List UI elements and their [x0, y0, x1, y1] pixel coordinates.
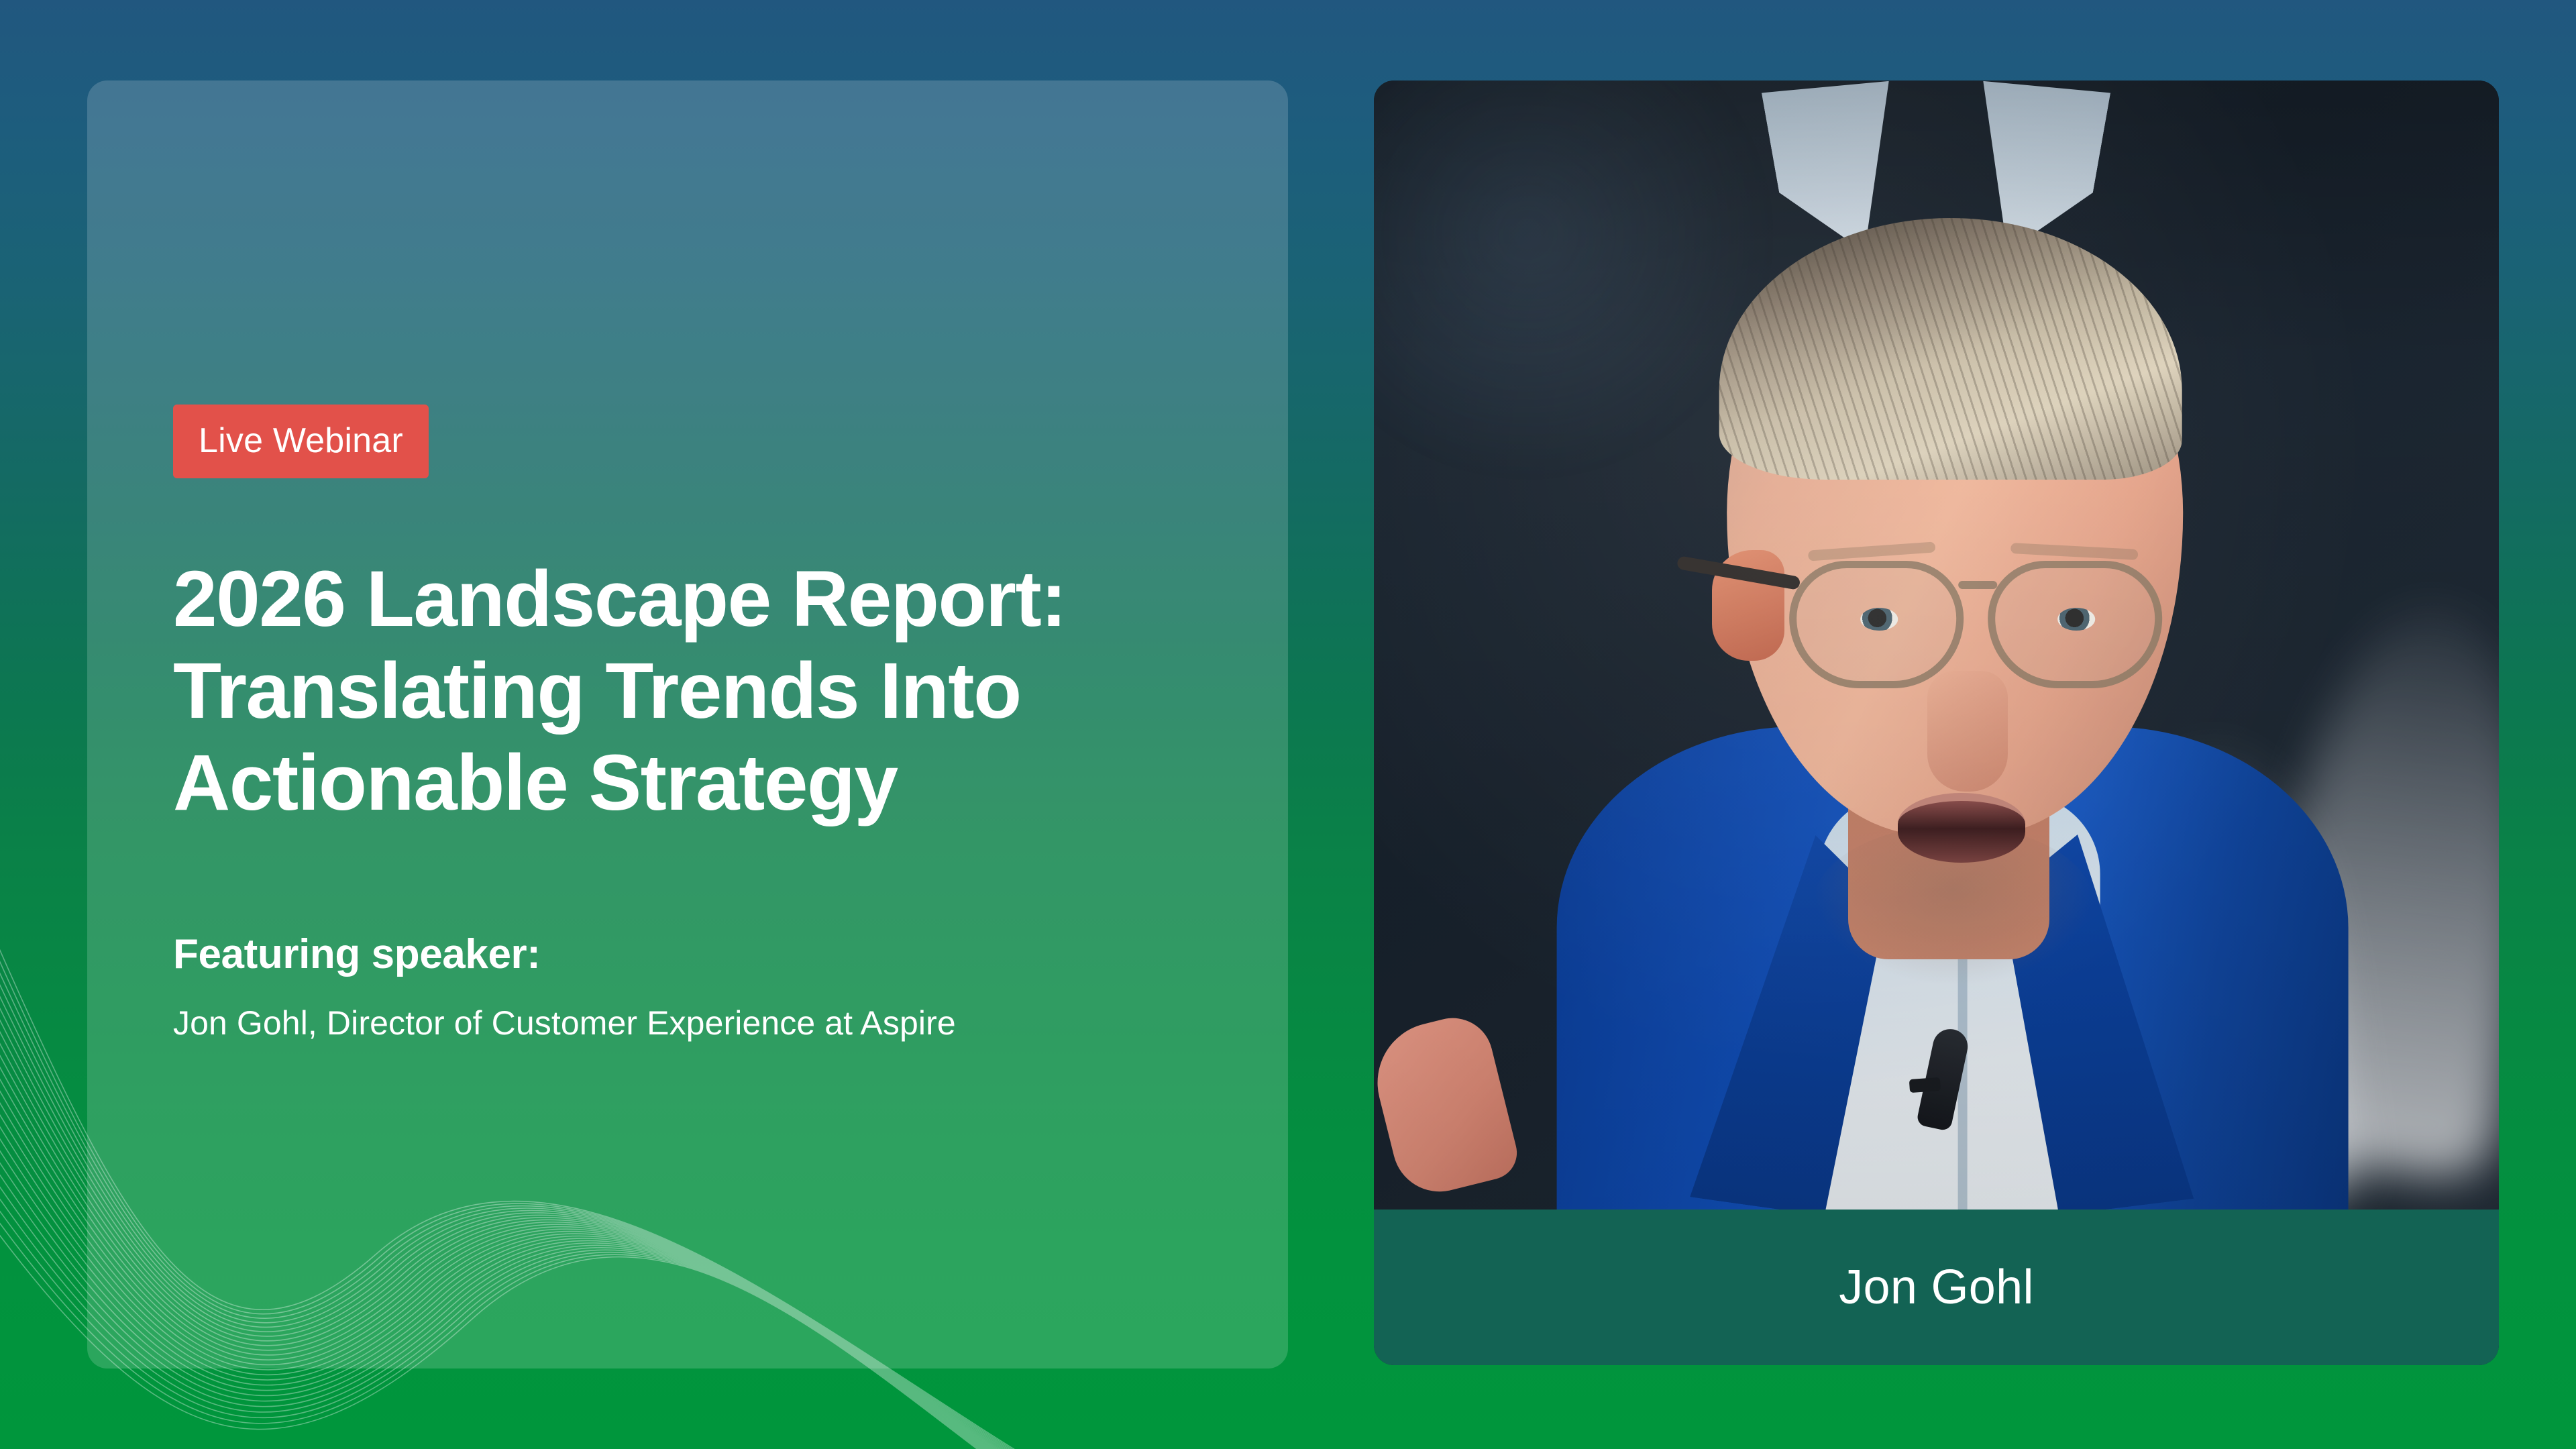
- hair: [1719, 218, 2182, 480]
- headline-line-2: Translating Trends Into: [173, 645, 1202, 737]
- headline-line-1: 2026 Landscape Report:: [173, 553, 1202, 645]
- headline-line-3: Actionable Strategy: [173, 737, 1202, 829]
- nose: [1927, 671, 2008, 792]
- eye-right: [2057, 608, 2095, 631]
- eyeglasses-icon: [1742, 543, 2205, 684]
- eye-left: [1860, 608, 1898, 631]
- page-title: 2026 Landscape Report: Translating Trend…: [173, 553, 1202, 829]
- hair-strands: [1719, 218, 2182, 480]
- speaker-photo: [1374, 80, 2499, 1210]
- speaker-nameplate: Jon Gohl: [1374, 1210, 2499, 1365]
- hand: [1374, 1010, 1523, 1201]
- eyebrow-left: [1807, 541, 1935, 561]
- mouth: [1898, 793, 2025, 863]
- glasses-bridge: [1958, 581, 1997, 589]
- speaker-photo-card: Jon Gohl: [1374, 80, 2499, 1365]
- speaker-credit-text: Jon Gohl, Director of Customer Experienc…: [173, 1002, 1202, 1044]
- eyebrow-right: [2010, 543, 2138, 560]
- speaker-name: Jon Gohl: [1839, 1263, 2034, 1311]
- webinar-content-card: Live Webinar 2026 Landscape Report: Tran…: [87, 80, 1288, 1368]
- featuring-speaker-label: Featuring speaker:: [173, 930, 1202, 979]
- mic-clip: [1909, 1077, 1940, 1093]
- speaker-figure: [1374, 80, 2499, 1210]
- live-webinar-badge: Live Webinar: [173, 405, 429, 478]
- promo-graphic: Live Webinar 2026 Landscape Report: Tran…: [0, 0, 2576, 1449]
